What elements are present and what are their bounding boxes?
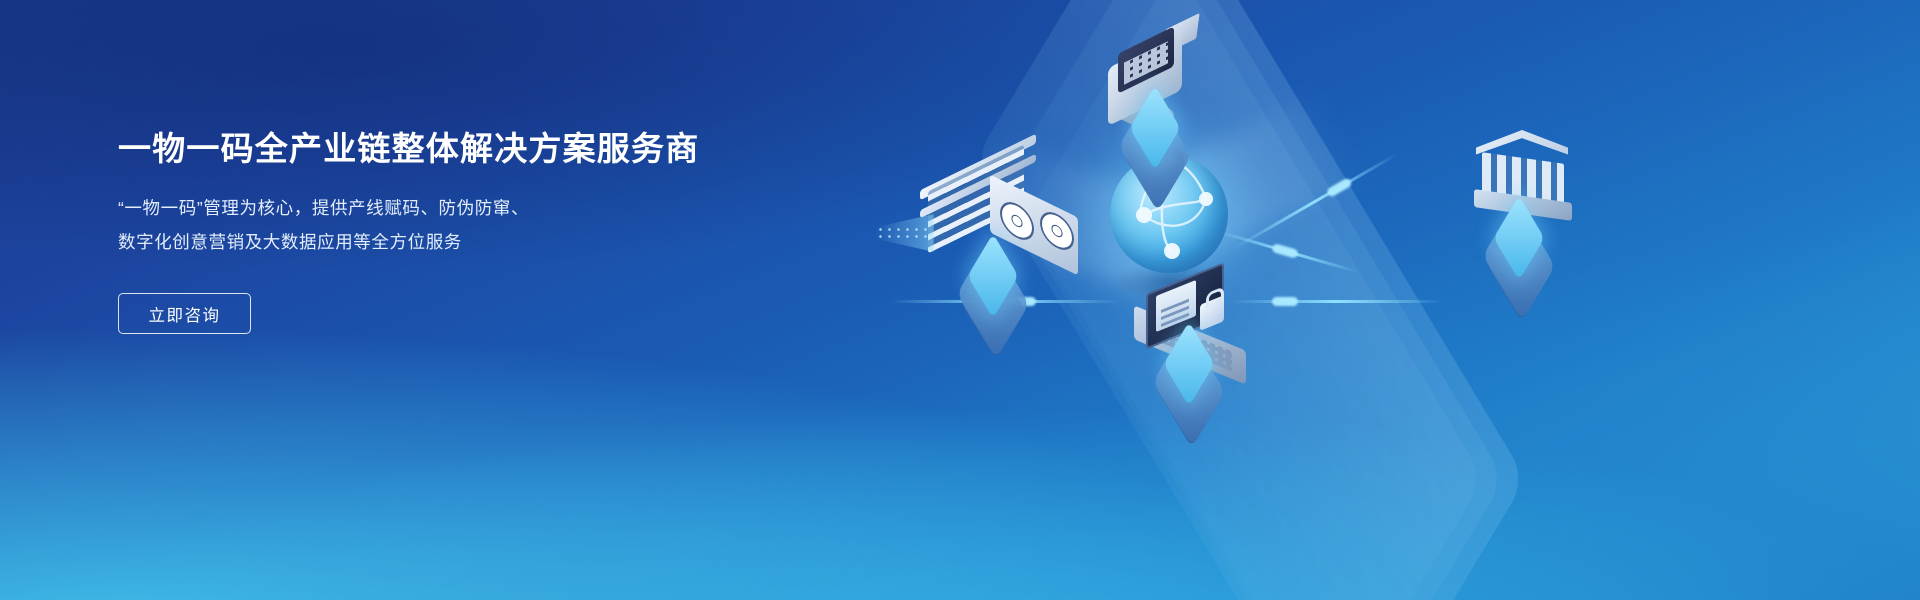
hero-banner: 一物一码全产业链整体解决方案服务商 “一物一码”管理为核心，提供产线赋码、防伪防… <box>0 0 1920 600</box>
pedestal-machine-icon <box>956 252 1030 310</box>
page-title: 一物一码全产业链整体解决方案服务商 <box>118 128 758 169</box>
pedestal-bank-icon <box>1482 214 1556 272</box>
pedestal-laptop-icon <box>1152 340 1226 398</box>
hero-copy-block: 一物一码全产业链整体解决方案服务商 “一物一码”管理为核心，提供产线赋码、防伪防… <box>118 128 758 334</box>
pedestal-pos-icon <box>1118 104 1192 162</box>
hero-subtitle-line-1: “一物一码”管理为核心，提供产线赋码、防伪防窜、 <box>118 191 758 225</box>
consult-now-button[interactable]: 立即咨询 <box>118 293 251 334</box>
isometric-network-illustration <box>860 0 1920 600</box>
hero-subtitle-line-2: 数字化创意营销及大数据应用等全方位服务 <box>118 225 758 259</box>
hero-subtitle: “一物一码”管理为核心，提供产线赋码、防伪防窜、 数字化创意营销及大数据应用等全… <box>118 191 758 259</box>
data-beam-icon <box>1232 300 1442 303</box>
